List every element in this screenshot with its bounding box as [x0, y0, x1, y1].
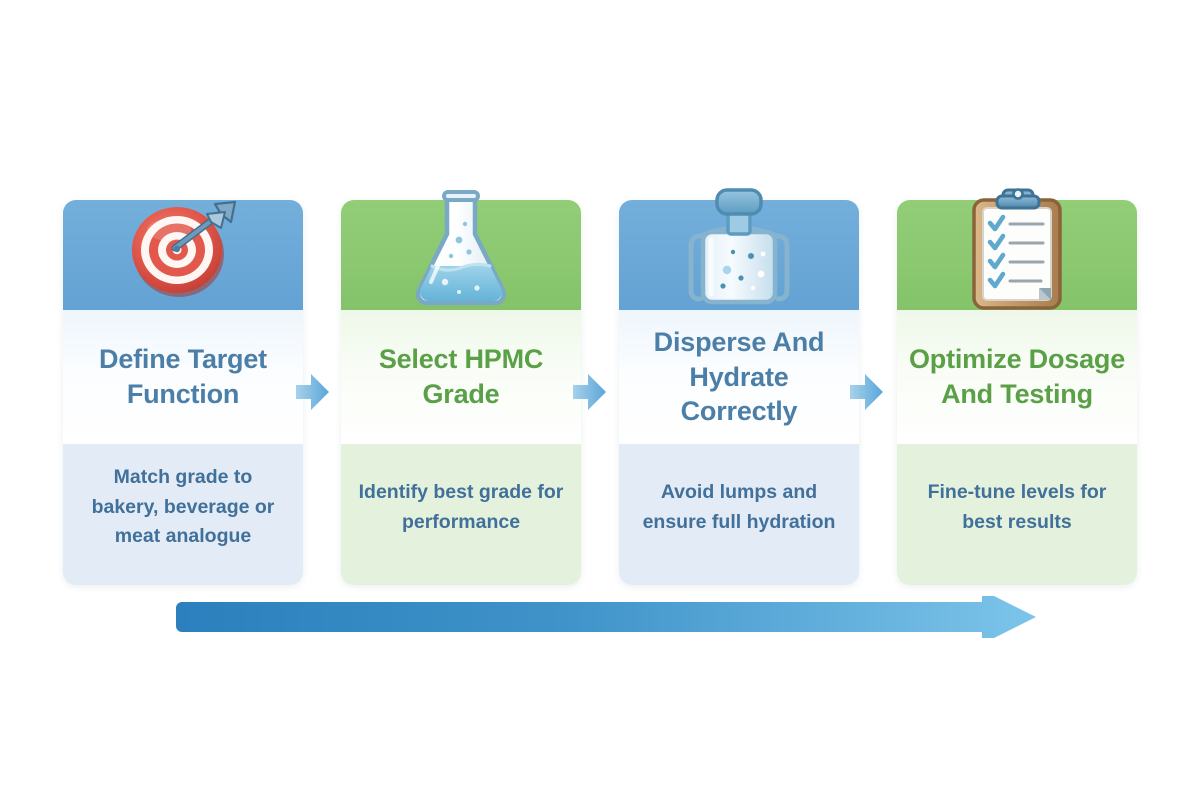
step-card-3[interactable]: Disperse And Hydrate Correctly Avoid lum…	[619, 200, 859, 585]
step-card-4-inner: Optimize Dosage And Testing Fine-tune le…	[897, 200, 1137, 585]
step-card-1-header	[63, 200, 303, 310]
connector-arrow-2-to-3	[572, 370, 608, 414]
connector-arrow-1-to-2	[295, 370, 331, 414]
process-direction-arrow	[170, 596, 1040, 638]
step-card-3-title: Disperse And Hydrate Correctly	[619, 310, 859, 444]
step-card-4[interactable]: Optimize Dosage And Testing Fine-tune le…	[897, 200, 1137, 585]
step-card-2-title: Select HPMC Grade	[341, 310, 581, 444]
step-card-3-description: Avoid lumps and ensure full hydration	[619, 444, 859, 585]
step-card-3-header	[619, 200, 859, 310]
connector-arrow-3-to-4	[849, 370, 885, 414]
step-card-2[interactable]: Select HPMC Grade Identify best grade fo…	[341, 200, 581, 585]
step-card-1-inner: Define Target Function Match grade to ba…	[63, 200, 303, 585]
step-card-1-description: Match grade to bakery, beverage or meat …	[63, 444, 303, 585]
step-card-2-header	[341, 200, 581, 310]
step-card-1[interactable]: Define Target Function Match grade to ba…	[63, 200, 303, 585]
step-card-2-inner: Select HPMC Grade Identify best grade fo…	[341, 200, 581, 585]
step-card-4-title: Optimize Dosage And Testing	[897, 310, 1137, 444]
step-card-4-header	[897, 200, 1137, 310]
step-card-3-inner: Disperse And Hydrate Correctly Avoid lum…	[619, 200, 859, 585]
process-flow-diagram: Define Target Function Match grade to ba…	[0, 0, 1200, 800]
step-card-4-description: Fine-tune levels for best results	[897, 444, 1137, 585]
step-card-1-title: Define Target Function	[63, 310, 303, 444]
step-card-2-description: Identify best grade for performance	[341, 444, 581, 585]
